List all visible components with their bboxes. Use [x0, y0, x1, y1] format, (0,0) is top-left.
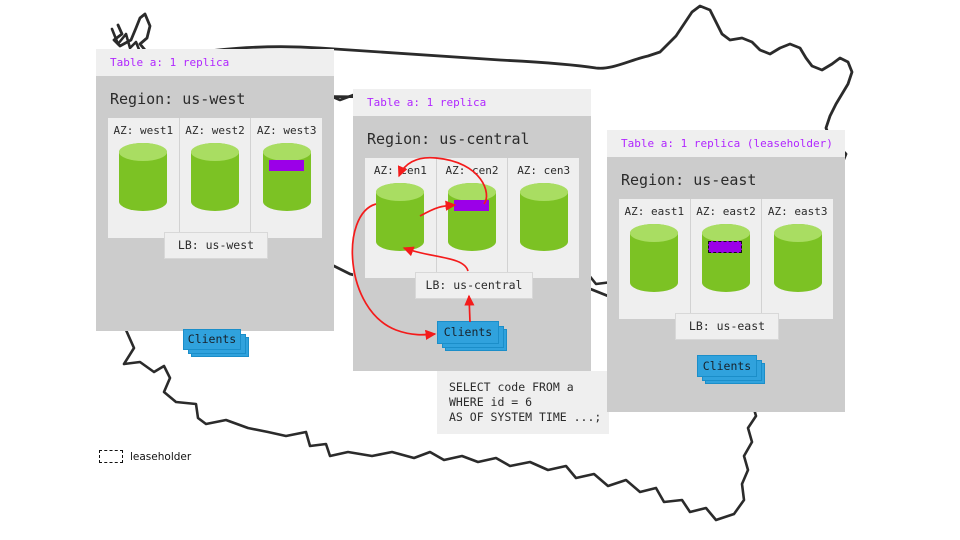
az-label-west2: AZ: west2 [180, 124, 251, 137]
node-cylinder-west3[interactable] [263, 143, 311, 211]
az-cen3[interactable]: AZ: cen3 [508, 158, 579, 278]
node-cylinder-cen2[interactable] [448, 183, 496, 251]
region-panel-us-east: Table a: 1 replica (leaseholder) Region:… [607, 130, 845, 412]
az-east2[interactable]: AZ: east2 [691, 199, 763, 319]
replica-east2-leaseholder[interactable] [708, 241, 742, 253]
az-row-us-west: AZ: west1 AZ: west2 AZ: west3 [108, 118, 322, 238]
legend-leaseholder: leaseholder [99, 450, 191, 463]
cylinder-top [448, 183, 496, 201]
az-row-us-east: AZ: east1 AZ: east2 AZ: east3 [619, 199, 833, 319]
sql-statement-box: SELECT code FROM a WHERE id = 6 AS OF SY… [437, 371, 609, 434]
dashed-rect-icon [99, 450, 123, 463]
cylinder-top [376, 183, 424, 201]
az-label-east1: AZ: east1 [619, 205, 690, 218]
replica-west3[interactable] [269, 160, 304, 171]
cylinder-top [119, 143, 167, 161]
cylinder-top [263, 143, 311, 161]
lb-us-east[interactable]: LB: us-east [675, 313, 779, 340]
lb-us-west[interactable]: LB: us-west [164, 232, 268, 259]
az-label-cen3: AZ: cen3 [508, 164, 579, 177]
region-title-us-central: Region: us-central [353, 116, 591, 158]
cylinder-top [630, 224, 678, 242]
region-banner-us-east: Table a: 1 replica (leaseholder) [607, 130, 845, 157]
az-row-us-central: AZ: cen1 AZ: cen2 AZ: cen3 [365, 158, 579, 278]
cylinder-top [702, 224, 750, 242]
az-label-cen1: AZ: cen1 [365, 164, 436, 177]
replica-cen2[interactable] [454, 200, 489, 211]
clients-front-us-east[interactable]: Clients [697, 355, 757, 377]
region-banner-us-central: Table a: 1 replica [353, 89, 591, 116]
clients-us-central[interactable]: Clients [437, 321, 509, 349]
node-cylinder-west1[interactable] [119, 143, 167, 211]
node-cylinder-east3[interactable] [774, 224, 822, 292]
clients-front-us-west[interactable]: Clients [183, 329, 241, 350]
az-label-east2: AZ: east2 [691, 205, 762, 218]
az-west3[interactable]: AZ: west3 [251, 118, 322, 238]
node-cylinder-east1[interactable] [630, 224, 678, 292]
region-banner-us-west: Table a: 1 replica [96, 49, 334, 76]
node-cylinder-cen1[interactable] [376, 183, 424, 251]
az-east3[interactable]: AZ: east3 [762, 199, 833, 319]
az-label-east3: AZ: east3 [762, 205, 833, 218]
region-panel-us-central: Table a: 1 replica Region: us-central AZ… [353, 89, 591, 371]
lb-us-central[interactable]: LB: us-central [415, 272, 533, 299]
cylinder-top [191, 143, 239, 161]
region-title-us-east: Region: us-east [607, 157, 845, 199]
az-cen2[interactable]: AZ: cen2 [437, 158, 509, 278]
az-label-west1: AZ: west1 [108, 124, 179, 137]
az-cen1[interactable]: AZ: cen1 [365, 158, 437, 278]
region-title-us-west: Region: us-west [96, 76, 334, 118]
cylinder-top [774, 224, 822, 242]
node-cylinder-cen3[interactable] [520, 183, 568, 251]
az-label-cen2: AZ: cen2 [437, 164, 508, 177]
clients-us-east[interactable]: Clients [697, 355, 765, 382]
az-label-west3: AZ: west3 [251, 124, 322, 137]
clients-front-us-central[interactable]: Clients [437, 321, 499, 344]
az-west2[interactable]: AZ: west2 [180, 118, 252, 238]
diagram-canvas: 1 2 3 4 5 Table a: 1 replica Region: us-… [0, 0, 960, 540]
az-west1[interactable]: AZ: west1 [108, 118, 180, 238]
clients-us-west[interactable]: Clients [183, 329, 247, 355]
az-east1[interactable]: AZ: east1 [619, 199, 691, 319]
cylinder-top [520, 183, 568, 201]
node-cylinder-east2[interactable] [702, 224, 750, 292]
node-cylinder-west2[interactable] [191, 143, 239, 211]
legend-label: leaseholder [130, 451, 191, 463]
region-panel-us-west: Table a: 1 replica Region: us-west AZ: w… [96, 49, 334, 331]
